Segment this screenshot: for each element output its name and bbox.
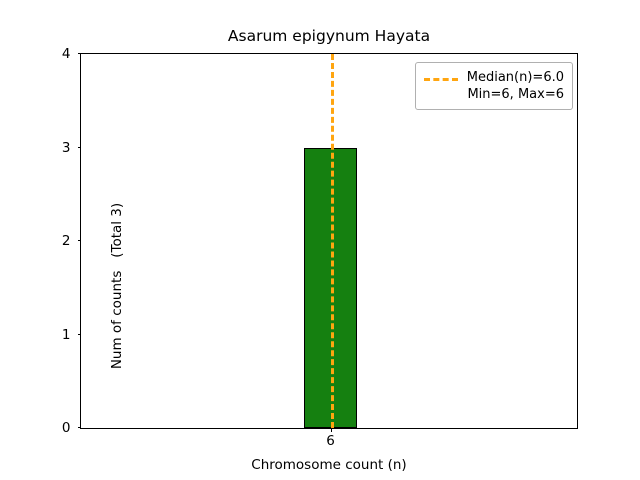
ytick-label-0: 0 [62,421,71,435]
y-axis-label: Num of counts (Total 3) [109,98,125,474]
legend: Median(n)=6.0 Min=6, Max=6 [415,62,573,110]
x-axis-label: Chromosome count (n) [80,457,578,473]
ytick-label-1: 1 [62,328,71,342]
dashed-line-icon [424,69,458,86]
ytick-label-2: 2 [62,234,71,248]
ytick-4: 4 [78,53,82,54]
median-line [331,54,334,428]
chart-figure: Asarum epigynum Hayata 0 1 2 3 4 6 Num o… [0,0,640,480]
xtick-0 [331,428,332,432]
xtick-label-0: 6 [326,434,335,448]
ytick-label-4: 4 [62,47,71,61]
ytick-2: 2 [78,240,82,241]
ytick-3: 3 [78,147,82,148]
ytick-0: 0 [78,427,82,428]
ytick-1: 1 [78,334,82,335]
legend-entry-median: Median(n)=6.0 Min=6, Max=6 [467,69,564,103]
plot-area: 0 1 2 3 4 6 Num of counts (Total 3) Medi… [80,53,578,429]
ytick-label-3: 3 [62,141,71,155]
chart-title: Asarum epigynum Hayata [80,27,578,45]
legend-label-median: Median(n)=6.0 [467,69,564,86]
legend-label-minmax: Min=6, Max=6 [467,86,564,103]
